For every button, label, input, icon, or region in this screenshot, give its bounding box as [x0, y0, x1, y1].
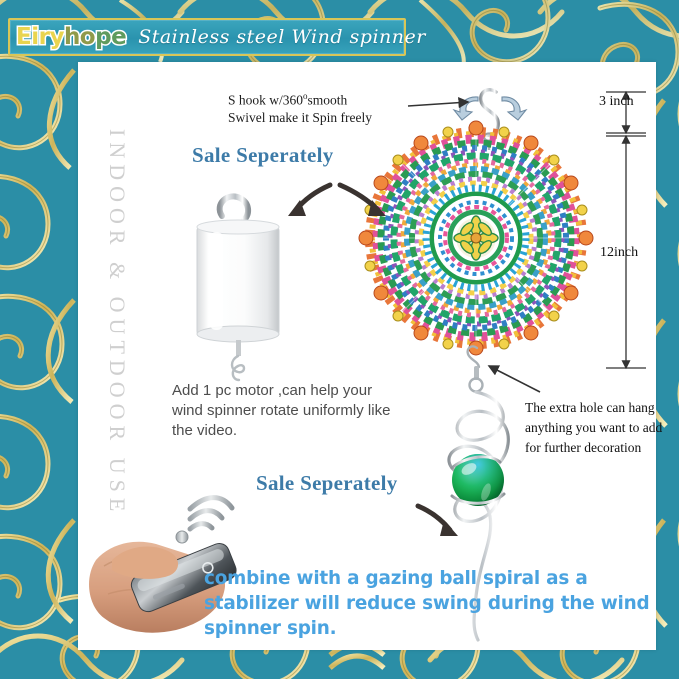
s-hook-annotation-line1-end: smooth [308, 93, 348, 108]
dimension-label-top: 3 inch [599, 94, 634, 110]
brand-logo-part-2: ho [64, 24, 95, 50]
sale-separately-label-spiral: Sale Seperately [256, 471, 398, 496]
content-card [78, 62, 656, 650]
extra-hole-description: The extra hole can hang anything you wan… [525, 398, 675, 458]
brand-logo-part-1: Eiry [16, 24, 64, 50]
sale-separately-label-motor: Sale Seperately [192, 143, 334, 168]
stabilizer-claim: combine with a gazing ball spiral as a s… [204, 566, 654, 641]
brand-logo-part-3: pe [95, 24, 126, 50]
s-hook-annotation-line2: Swivel make it Spin freely [228, 110, 372, 125]
s-hook-annotation-line1: S hook w/360 [228, 93, 303, 108]
vertical-usage-label: INDOOR & OUTDOOR USE [96, 108, 130, 538]
motor-description: Add 1 pc motor ,can help your wind spinn… [172, 381, 407, 441]
header-banner: Eiryhope Stainless steel Wind spinner [8, 18, 406, 56]
brand-logo: Eiryhope [16, 24, 126, 50]
dimension-label-disc: 12inch [600, 245, 638, 261]
s-hook-annotation: S hook w/360osmooth Swivel make it Spin … [228, 88, 443, 126]
banner-title: Stainless steel Wind spinner [138, 26, 426, 48]
